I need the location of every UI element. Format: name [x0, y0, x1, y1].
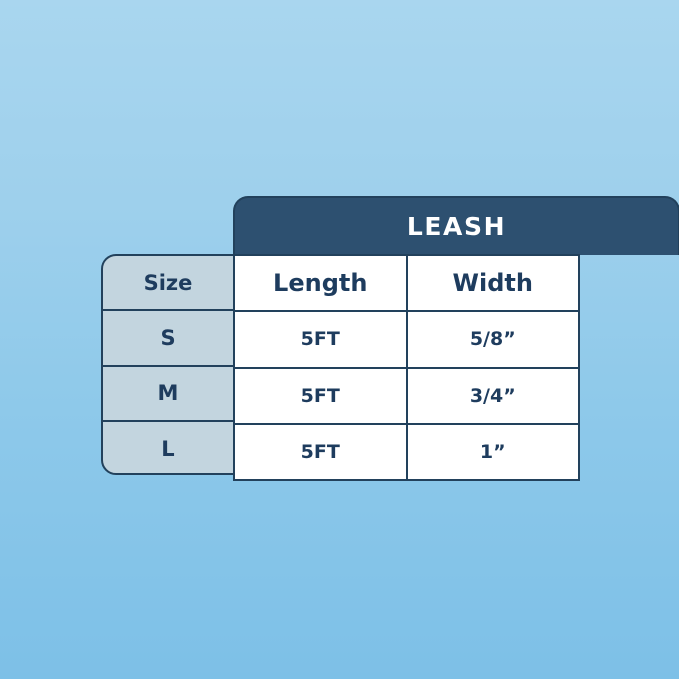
width-cell-m: 3/4”	[408, 369, 579, 423]
size-column-header: Size	[103, 256, 233, 311]
size-column: Size S M L	[101, 254, 235, 475]
size-chart-image: LEASH Size S M L Length Width 5FT 5/8”	[0, 0, 679, 679]
size-cell-l: L	[103, 422, 233, 475]
table-row: 5FT 1”	[235, 425, 578, 479]
length-column-header: Length	[235, 256, 408, 310]
table-row: 5FT 3/4”	[235, 369, 578, 425]
width-column-header: Width	[408, 256, 579, 310]
chart-body: Size S M L Length Width 5FT 5/8” 5FT 3/4…	[101, 254, 580, 481]
measurement-header-row: Length Width	[235, 256, 578, 312]
chart-title: LEASH	[407, 214, 506, 239]
width-cell-l: 1”	[408, 425, 579, 479]
leash-size-chart: LEASH Size S M L Length Width 5FT 5/8”	[101, 196, 581, 481]
length-cell-s: 5FT	[235, 312, 408, 366]
size-cell-m: M	[103, 367, 233, 422]
table-row: 5FT 5/8”	[235, 312, 578, 368]
length-cell-m: 5FT	[235, 369, 408, 423]
measurement-columns: Length Width 5FT 5/8” 5FT 3/4” 5FT 1”	[233, 254, 580, 481]
width-cell-s: 5/8”	[408, 312, 579, 366]
length-cell-l: 5FT	[235, 425, 408, 479]
chart-title-banner: LEASH	[233, 196, 679, 255]
size-cell-s: S	[103, 311, 233, 366]
